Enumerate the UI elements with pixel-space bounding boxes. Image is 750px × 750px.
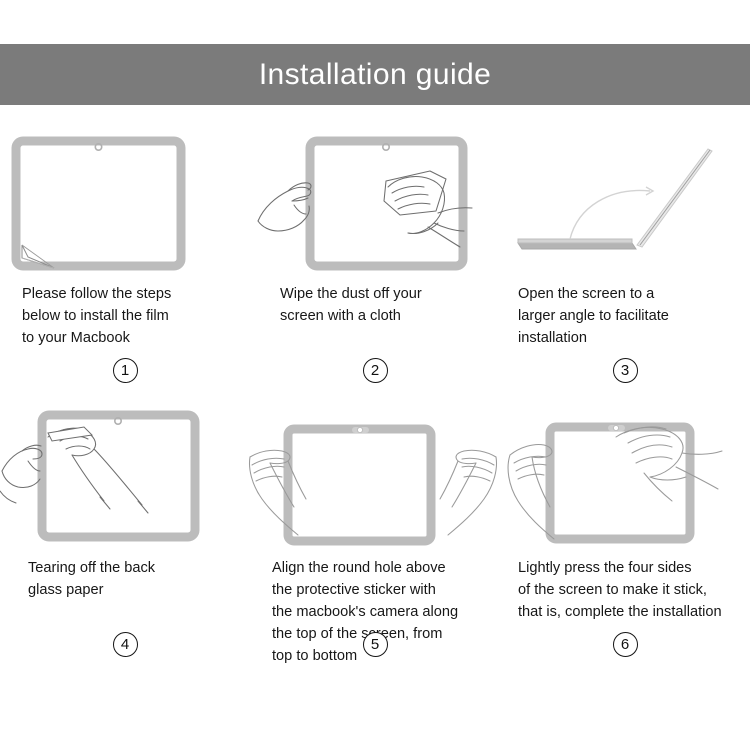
- caption-line: Align the round hole above: [272, 557, 492, 579]
- caption-line: that is, complete the installation: [518, 601, 742, 623]
- step-panel-5: Align the round hole above the protectiv…: [250, 397, 500, 671]
- installation-guide-page: Installation guide Please follow the ste…: [0, 0, 750, 750]
- caption-line: screen with a cloth: [280, 305, 492, 327]
- step-panel-2: Wipe the dust off your screen with a clo…: [250, 123, 500, 397]
- steps-grid: Please follow the steps below to install…: [0, 123, 750, 723]
- step-caption-1: Please follow the steps below to install…: [22, 283, 242, 349]
- step-panel-1: Please follow the steps below to install…: [0, 123, 250, 397]
- illustration-tablet-hand-wiping-with-cloth: [250, 135, 500, 275]
- caption-line: Open the screen to a: [518, 283, 742, 305]
- illustration-tablet-hands-peeling-backing-paper: [0, 409, 250, 549]
- step-number-wrap-6: 6: [500, 632, 750, 657]
- illustration-laptop-side-profile-opening-arc: [500, 135, 750, 275]
- caption-line: Tearing off the back: [28, 557, 242, 579]
- step-number-4: 4: [113, 632, 138, 657]
- step-panel-6: Lightly press the four sides of the scre…: [500, 397, 750, 671]
- step-number-5: 5: [363, 632, 388, 657]
- step-caption-2: Wipe the dust off your screen with a clo…: [280, 283, 492, 327]
- page-title: Installation guide: [259, 60, 491, 90]
- step-caption-3: Open the screen to a larger angle to fac…: [518, 283, 742, 349]
- step-number-wrap-2: 2: [250, 358, 500, 383]
- caption-line: below to install the film: [22, 305, 242, 327]
- illustration-tablet-with-peeling-film-corner: [0, 135, 250, 275]
- caption-line: the protective sticker with: [272, 579, 492, 601]
- step-number-wrap-1: 1: [0, 358, 250, 383]
- caption-line: to your Macbook: [22, 327, 242, 349]
- header-bar: Installation guide: [0, 44, 750, 105]
- step-caption-4: Tearing off the back glass paper: [28, 557, 242, 601]
- step-number-1: 1: [113, 358, 138, 383]
- step-number-wrap-4: 4: [0, 632, 250, 657]
- illustration-tablet-hand-pressing-screen-edges: [500, 409, 750, 549]
- step-number-3: 3: [613, 358, 638, 383]
- step-number-wrap-3: 3: [500, 358, 750, 383]
- illustration-tablet-two-hands-aligning-film: [250, 409, 500, 549]
- caption-line: installation: [518, 327, 742, 349]
- caption-line: larger angle to facilitate: [518, 305, 742, 327]
- step-number-wrap-5: 5: [250, 632, 500, 657]
- caption-line: glass paper: [28, 579, 242, 601]
- caption-line: the macbook's camera along: [272, 601, 492, 623]
- caption-line: Please follow the steps: [22, 283, 242, 305]
- caption-line: of the screen to make it stick,: [518, 579, 742, 601]
- step-panel-4: Tearing off the back glass paper 4: [0, 397, 250, 671]
- step-number-6: 6: [613, 632, 638, 657]
- caption-line: Wipe the dust off your: [280, 283, 492, 305]
- step-caption-6: Lightly press the four sides of the scre…: [518, 557, 742, 623]
- step-panel-3: Open the screen to a larger angle to fac…: [500, 123, 750, 397]
- step-number-2: 2: [363, 358, 388, 383]
- caption-line: Lightly press the four sides: [518, 557, 742, 579]
